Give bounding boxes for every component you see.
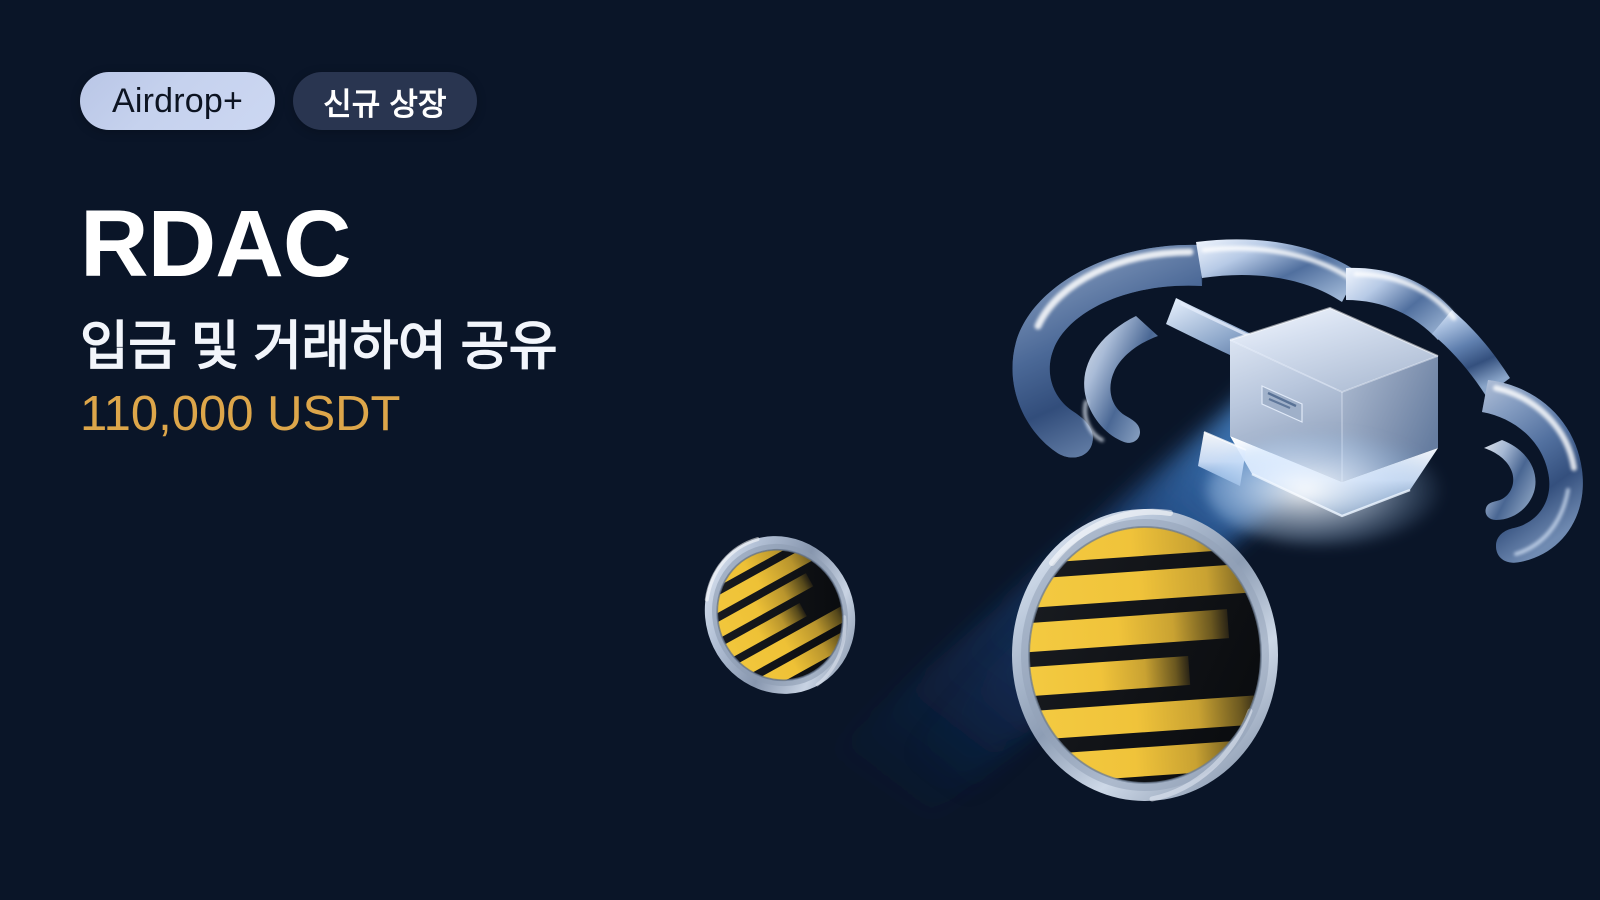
promo-banner: Airdrop+ 신규 상장 RDAC 입금 및 거래하여 공유 110,000… — [0, 0, 1600, 900]
badge-row: Airdrop+ 신규 상장 — [80, 72, 720, 130]
coin-large — [1000, 505, 1290, 805]
claw-arm-right — [1482, 380, 1583, 563]
promo-subtitle: 입금 및 거래하여 공유 — [80, 317, 720, 376]
badge-new-listing[interactable]: 신규 상장 — [293, 72, 477, 130]
coin-small — [695, 533, 865, 698]
claw-arm-left — [1012, 245, 1204, 458]
token-title: RDAC — [80, 198, 720, 291]
reward-amount: 110,000 USDT — [80, 388, 720, 442]
badge-airdrop[interactable]: Airdrop+ — [80, 72, 275, 130]
banner-content: Airdrop+ 신규 상장 RDAC 입금 및 거래하여 공유 110,000… — [80, 72, 720, 442]
